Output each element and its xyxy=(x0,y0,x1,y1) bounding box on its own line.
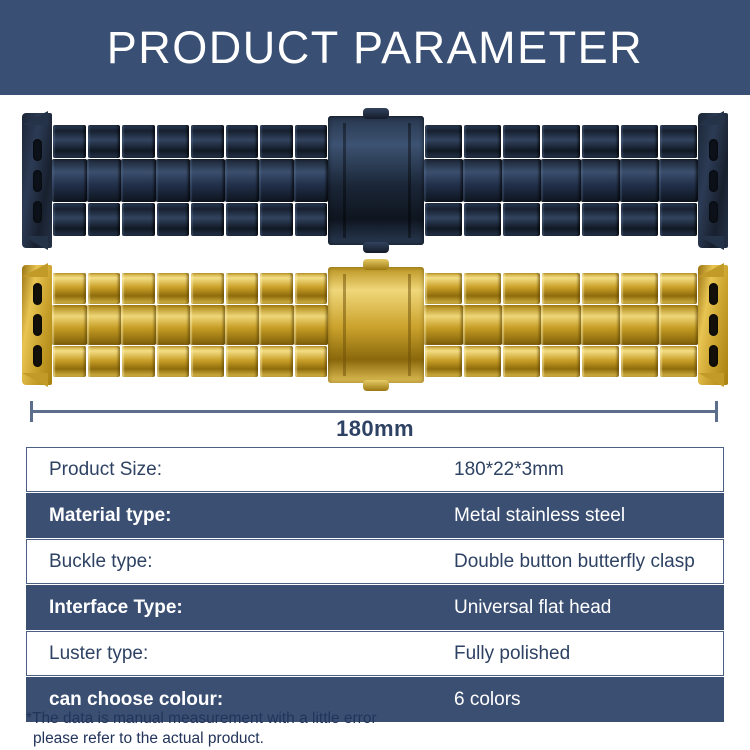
spec-label: Product Size: xyxy=(49,459,454,481)
spec-label: Material type: xyxy=(49,505,454,527)
clasp-button-top-icon xyxy=(363,108,389,119)
dimension-label: 180mm xyxy=(0,416,750,442)
page-title: PRODUCT PARAMETER xyxy=(107,22,643,74)
band-links-left xyxy=(52,125,328,236)
lug-slot xyxy=(33,283,42,305)
clasp-button-bottom-icon xyxy=(363,242,389,253)
lug-slot xyxy=(33,139,42,161)
lug-slot xyxy=(33,345,42,367)
specification-table: Product Size: 180*22*3mm Material type: … xyxy=(26,447,724,723)
footnote-line-1: *The data is manual measurement with a l… xyxy=(26,709,626,729)
lug-slot xyxy=(709,283,718,305)
footnote: *The data is manual measurement with a l… xyxy=(26,709,626,749)
table-row: Interface Type: Universal flat head xyxy=(26,585,724,630)
footnote-line-2: please refer to the actual product. xyxy=(26,729,626,749)
band-links-right xyxy=(424,125,698,236)
lug-slot xyxy=(709,314,718,336)
watch-lug-right-icon xyxy=(698,113,728,248)
product-image-gold-band xyxy=(22,265,728,385)
table-row: Product Size: 180*22*3mm xyxy=(26,447,724,492)
spec-value: Metal stainless steel xyxy=(454,505,723,527)
table-row: Luster type: Fully polished xyxy=(26,631,724,676)
spec-value: Double button butterfly clasp xyxy=(454,551,723,573)
product-photo-area xyxy=(0,95,750,395)
lug-slot xyxy=(709,345,718,367)
lug-slot xyxy=(33,170,42,192)
band-links-right xyxy=(424,273,698,376)
spec-value: 180*22*3mm xyxy=(454,459,723,481)
clasp-button-top-icon xyxy=(363,259,389,270)
header-banner: PRODUCT PARAMETER xyxy=(0,0,750,95)
product-image-dark-blue-band xyxy=(22,113,728,248)
watch-lug-right-icon xyxy=(698,265,728,385)
lug-slot xyxy=(33,314,42,336)
band-links-left xyxy=(52,273,328,376)
spec-label: can choose colour: xyxy=(49,689,454,711)
lug-slot xyxy=(33,201,42,223)
lug-slot xyxy=(709,170,718,192)
lug-slot xyxy=(709,139,718,161)
watch-lug-left-icon xyxy=(22,265,52,385)
dimension-indicator: 180mm xyxy=(0,396,750,446)
butterfly-clasp xyxy=(328,116,424,246)
lug-slot xyxy=(709,201,718,223)
spec-label: Luster type: xyxy=(49,643,454,665)
spec-value: Fully polished xyxy=(454,643,723,665)
product-parameter-page: PRODUCT PARAMETER xyxy=(0,0,750,750)
spec-label: Buckle type: xyxy=(49,551,454,573)
spec-value: 6 colors xyxy=(454,689,723,711)
table-row: Buckle type: Double button butterfly cla… xyxy=(26,539,724,584)
butterfly-clasp xyxy=(328,267,424,382)
spec-label: Interface Type: xyxy=(49,597,454,619)
spec-value: Universal flat head xyxy=(454,597,723,619)
watch-lug-left-icon xyxy=(22,113,52,248)
dimension-line xyxy=(30,410,718,413)
table-row: Material type: Metal stainless steel xyxy=(26,493,724,538)
clasp-button-bottom-icon xyxy=(363,380,389,391)
